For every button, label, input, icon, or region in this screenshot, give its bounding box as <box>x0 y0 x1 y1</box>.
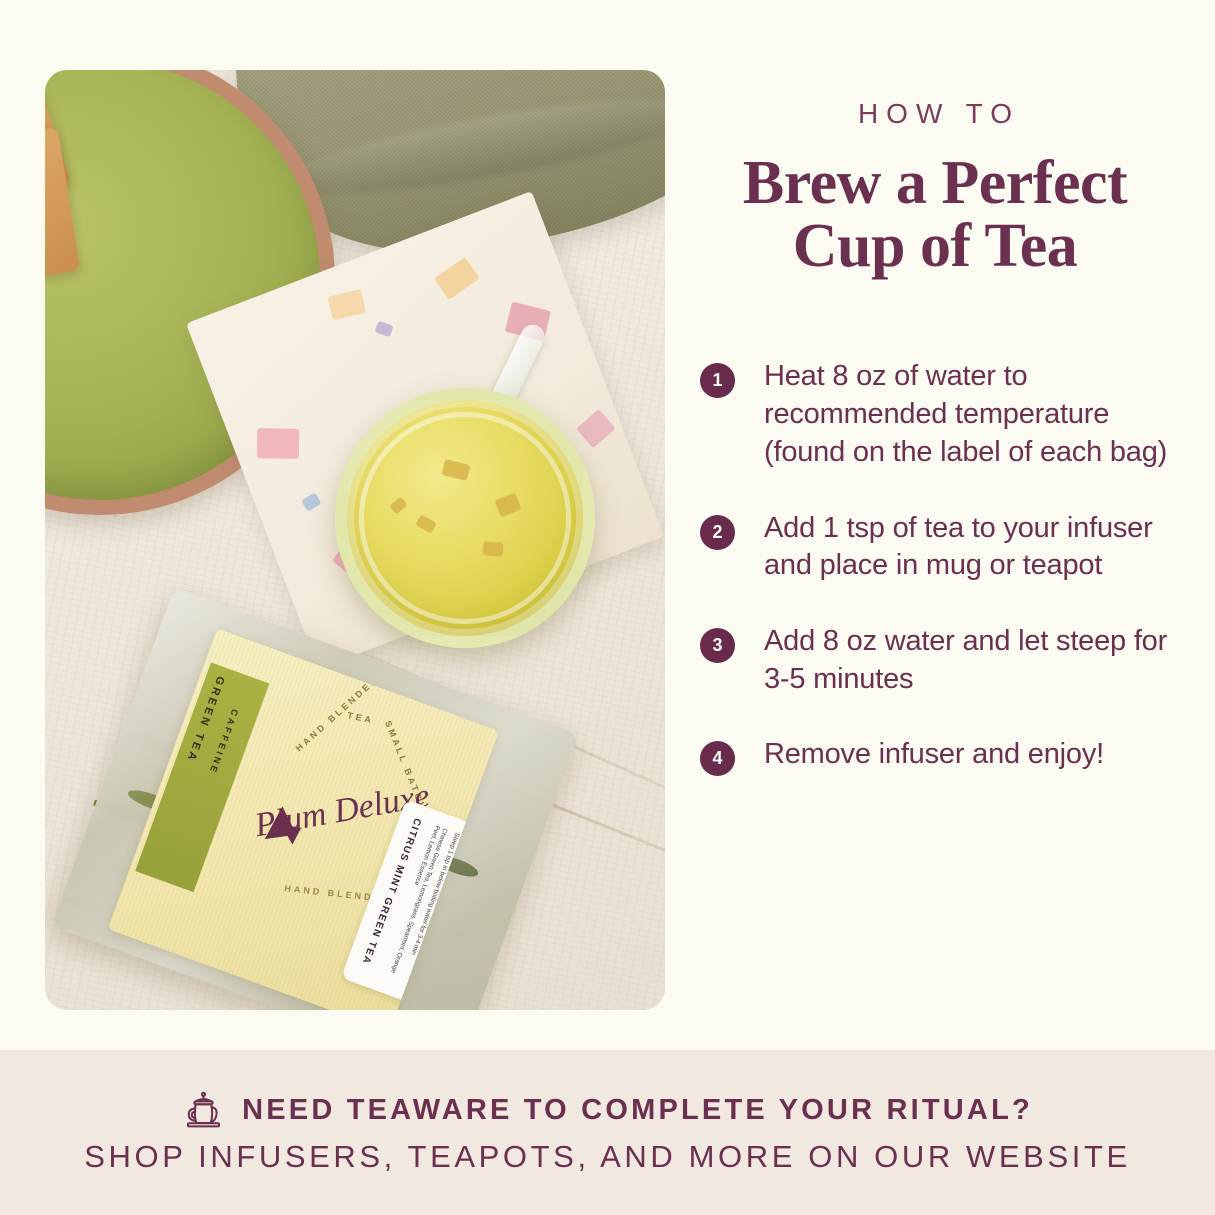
terrazzo-chip <box>257 428 300 459</box>
step-number-badge: 2 <box>700 515 735 550</box>
steps-list: 1 Heat 8 oz of water to recommended temp… <box>700 358 1170 776</box>
footer-banner: NEED TEAWARE TO COMPLETE YOUR RITUAL? SH… <box>0 1050 1215 1215</box>
footer-primary-row: NEED TEAWARE TO COMPLETE YOUR RITUAL? <box>182 1091 1033 1131</box>
footer-headline: NEED TEAWARE TO COMPLETE YOUR RITUAL? <box>242 1094 1033 1127</box>
terrazzo-chip <box>301 492 321 511</box>
footer-subline: SHOP INFUSERS, TEAPOTS, AND MORE ON OUR … <box>84 1139 1131 1175</box>
step-number-badge: 1 <box>700 363 735 398</box>
cup-rim <box>359 412 571 624</box>
hero-photo: GREEN TEA CAFFEINE HAND BLENDED TEA SMAL… <box>45 70 665 1010</box>
page-title: Brew a Perfect Cup of Tea <box>700 152 1170 278</box>
poster-canvas: GREEN TEA CAFFEINE HAND BLENDED TEA SMAL… <box>0 0 1215 1215</box>
step-text: Heat 8 oz of water to recommended temper… <box>764 358 1170 471</box>
terrazzo-chip <box>328 289 367 320</box>
kicker-how-to: HOW TO <box>700 98 1170 130</box>
glass-tea-cup <box>335 388 595 648</box>
list-item: 4 Remove infuser and enjoy! <box>700 736 1170 776</box>
list-item: 1 Heat 8 oz of water to recommended temp… <box>700 358 1170 471</box>
floating-tea-bit <box>482 541 503 557</box>
step-number-badge: 4 <box>700 741 735 776</box>
step-text: Remove infuser and enjoy! <box>764 736 1104 774</box>
page-title-line-1: Brew a Perfect <box>743 149 1127 217</box>
terrazzo-chip <box>576 409 616 448</box>
teapot-icon <box>182 1091 226 1131</box>
terrazzo-chip <box>375 321 394 338</box>
page-title-line-2: Cup of Tea <box>700 215 1170 278</box>
label-tea-text: TEA <box>346 710 374 725</box>
terrazzo-chip <box>434 257 480 300</box>
step-text: Add 1 tsp of tea to your infuser and pla… <box>764 510 1170 585</box>
cracker <box>45 127 80 298</box>
step-number-badge: 3 <box>700 628 735 663</box>
instructions-column: HOW TO Brew a Perfect Cup of Tea 1 Heat … <box>700 98 1170 814</box>
step-text: Add 8 oz water and let steep for 3-5 min… <box>764 623 1170 698</box>
photo-scene: GREEN TEA CAFFEINE HAND BLENDED TEA SMAL… <box>45 70 665 1010</box>
list-item: 2 Add 1 tsp of tea to your infuser and p… <box>700 510 1170 585</box>
napkin-fold <box>280 80 665 212</box>
content-area: GREEN TEA CAFFEINE HAND BLENDED TEA SMAL… <box>0 0 1215 1050</box>
list-item: 3 Add 8 oz water and let steep for 3-5 m… <box>700 623 1170 698</box>
